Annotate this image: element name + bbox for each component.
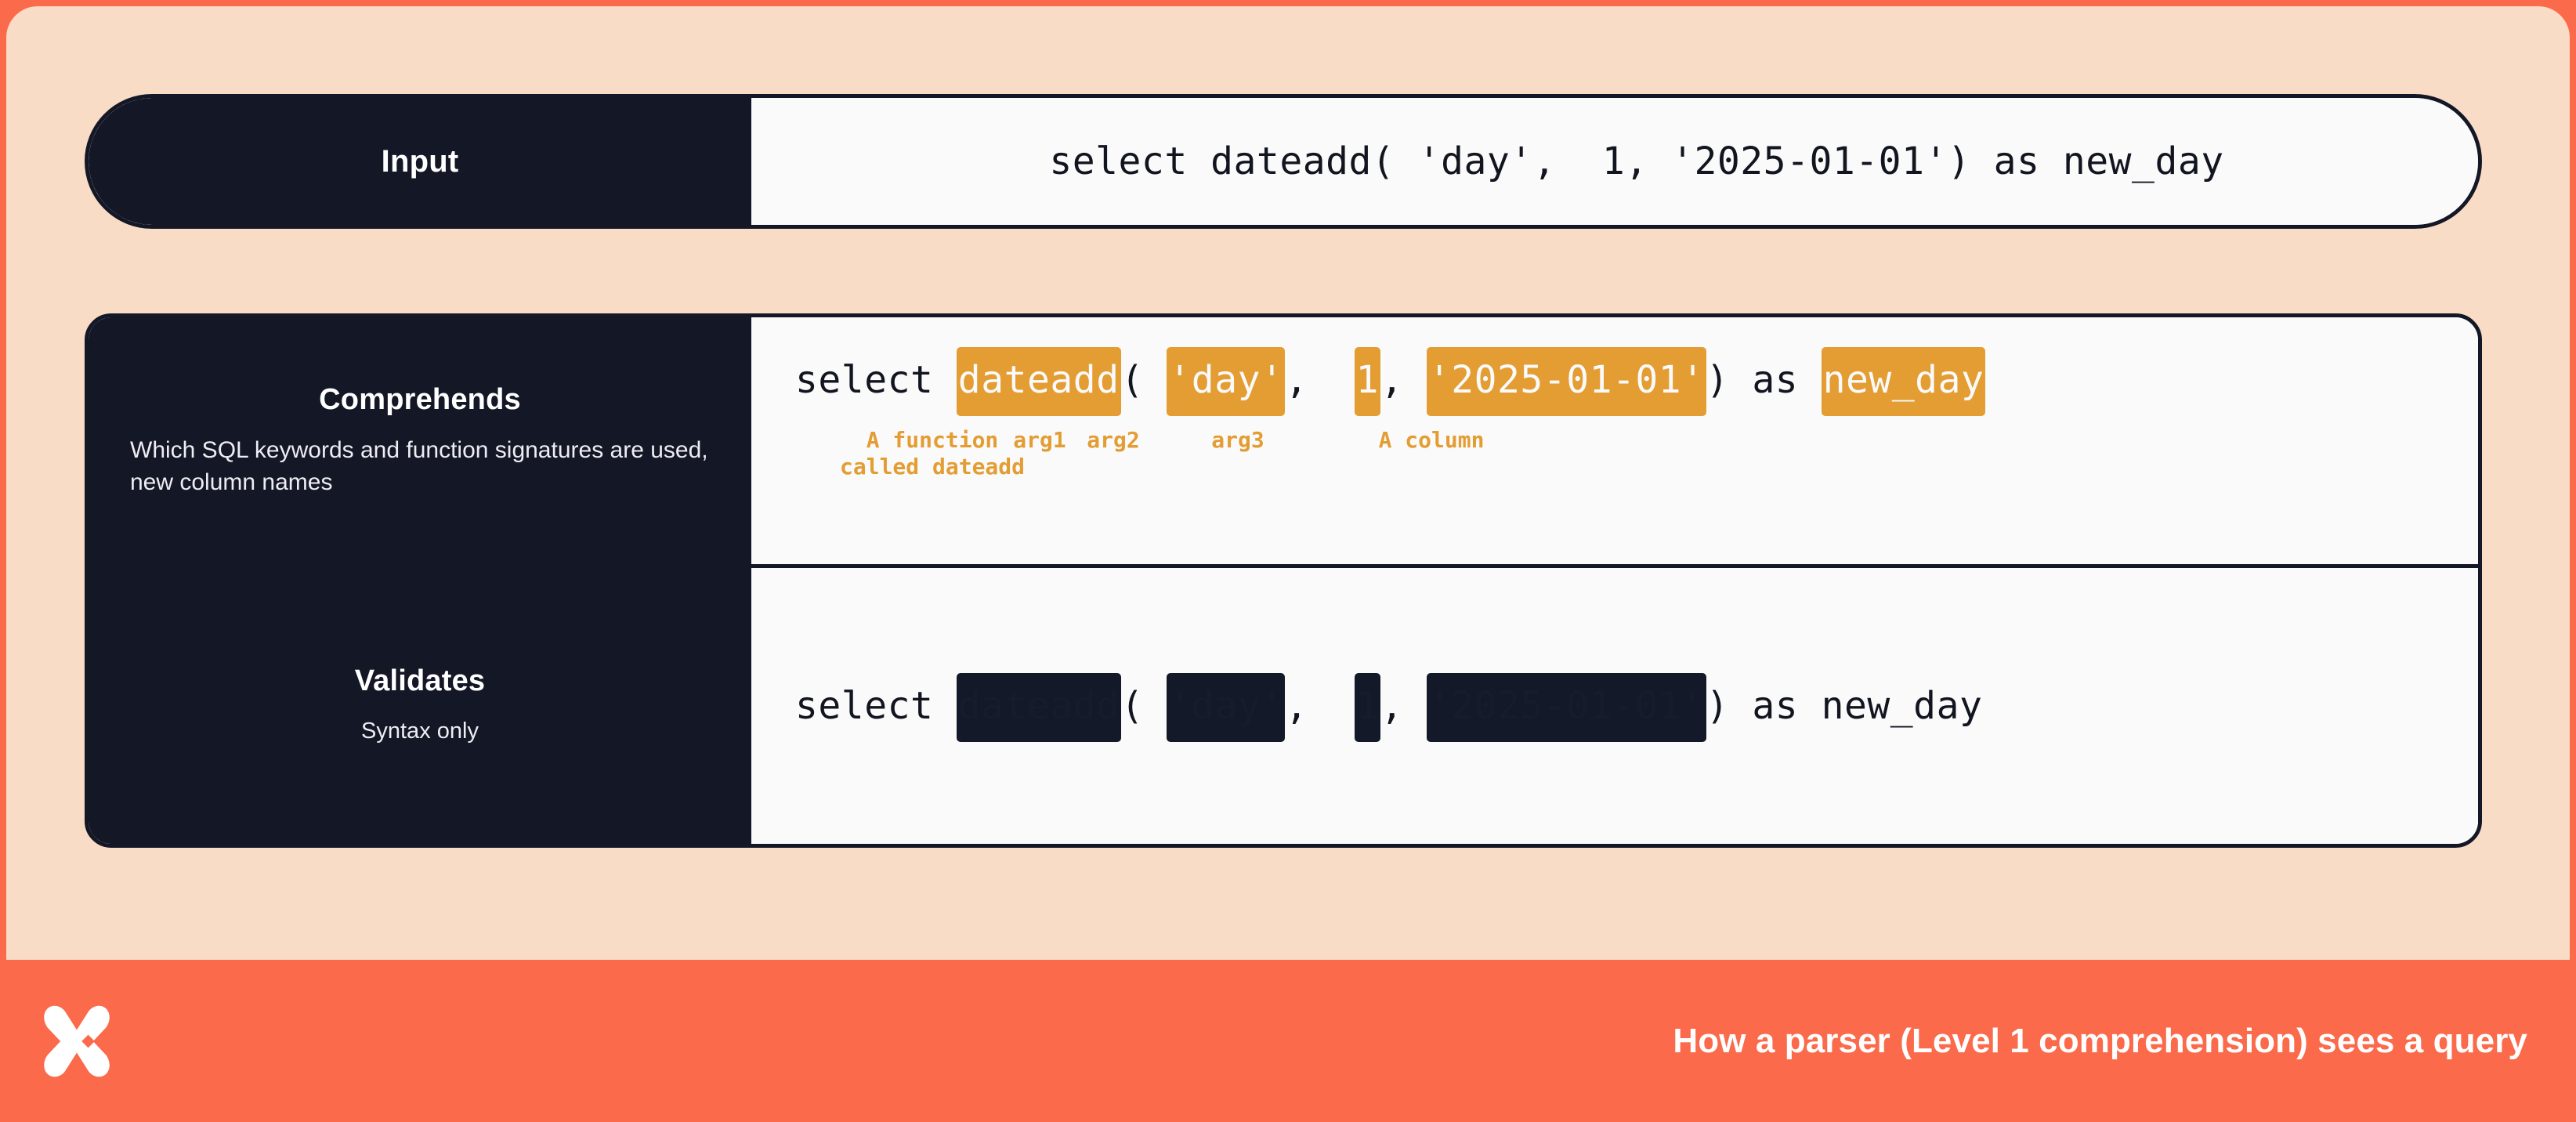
validates-sql-code: select dateadd( 'day', 1, '2025-01-01') … [795,687,1982,725]
comprehends-title: Comprehends [319,383,521,417]
input-row-title: Input [382,144,459,179]
comprehends-subtitle: Which SQL keywords and function signatur… [130,434,710,499]
validates-subtitle: Syntax only [361,715,479,747]
validates-token-redacted: 'day' [1167,673,1285,742]
comprehends-token-highlighted: new_day [1822,347,1986,416]
comprehends-row: Comprehends Which SQL keywords and funct… [89,317,2478,564]
input-row: Input select dateadd( 'day', 1, '2025-01… [85,94,2482,229]
validates-token-redacted: 1 [1355,673,1380,742]
input-row-code-pane: select dateadd( 'day', 1, '2025-01-01') … [751,98,2478,225]
comprehends-annotation: A column [1379,427,1485,454]
comprehends-token-plain: , [1285,358,1354,402]
footer-tagline: How a parser (Level 1 comprehension) see… [1673,1022,2527,1061]
comprehends-annotation: arg2 [1087,427,1139,454]
comprehends-token-plain: select [795,358,957,402]
comprehends-annotation: arg1 [1013,427,1065,454]
comprehends-token-plain: ( [1121,358,1167,402]
validates-token-redacted: dateadd [957,673,1121,742]
infographic-canvas: Input select dateadd( 'day', 1, '2025-01… [0,0,2576,1122]
validates-row: Validates Syntax only select dateadd( 'd… [89,568,2478,844]
input-row-label-pane: Input [89,98,751,225]
comprehends-token-highlighted: 'day' [1167,347,1285,416]
validates-label-pane: Validates Syntax only [89,568,751,844]
validates-code-pane: select dateadd( 'day', 1, '2025-01-01') … [751,568,2478,844]
validates-token-redacted: '2025-01-01' [1427,673,1706,742]
comprehends-token-plain: ) as [1706,358,1822,402]
brand-x-logo-icon [36,1001,118,1082]
footer-bar: How a parser (Level 1 comprehension) see… [0,960,2576,1122]
validates-token-plain: ( [1121,684,1167,728]
comprehends-token-plain: , [1380,358,1427,402]
input-sql-code: select dateadd( 'day', 1, '2025-01-01') … [1049,139,2223,183]
validates-token-plain: , [1285,684,1354,728]
comprehends-label-pane: Comprehends Which SQL keywords and funct… [89,317,751,564]
comprehends-token-highlighted: dateadd [957,347,1121,416]
comprehends-annotation: A function called dateadd [840,427,1025,480]
comprehends-annotation-layer: A function called dateaddarg1arg2arg3A c… [795,427,2440,521]
parser-behaviour-card: Comprehends Which SQL keywords and funct… [85,313,2482,848]
comprehends-token-highlighted: 1 [1355,347,1380,416]
comprehends-token-highlighted: '2025-01-01' [1427,347,1706,416]
validates-token-plain: , [1380,684,1427,728]
comprehends-sql-code: select dateadd( 'day', 1, '2025-01-01') … [795,361,1985,399]
comprehends-annotation: arg3 [1211,427,1264,454]
validates-token-plain: ) as new_day [1706,684,1983,728]
validates-title: Validates [355,664,486,698]
validates-token-plain: select [795,684,957,728]
comprehends-code-pane: select dateadd( 'day', 1, '2025-01-01') … [751,317,2478,564]
